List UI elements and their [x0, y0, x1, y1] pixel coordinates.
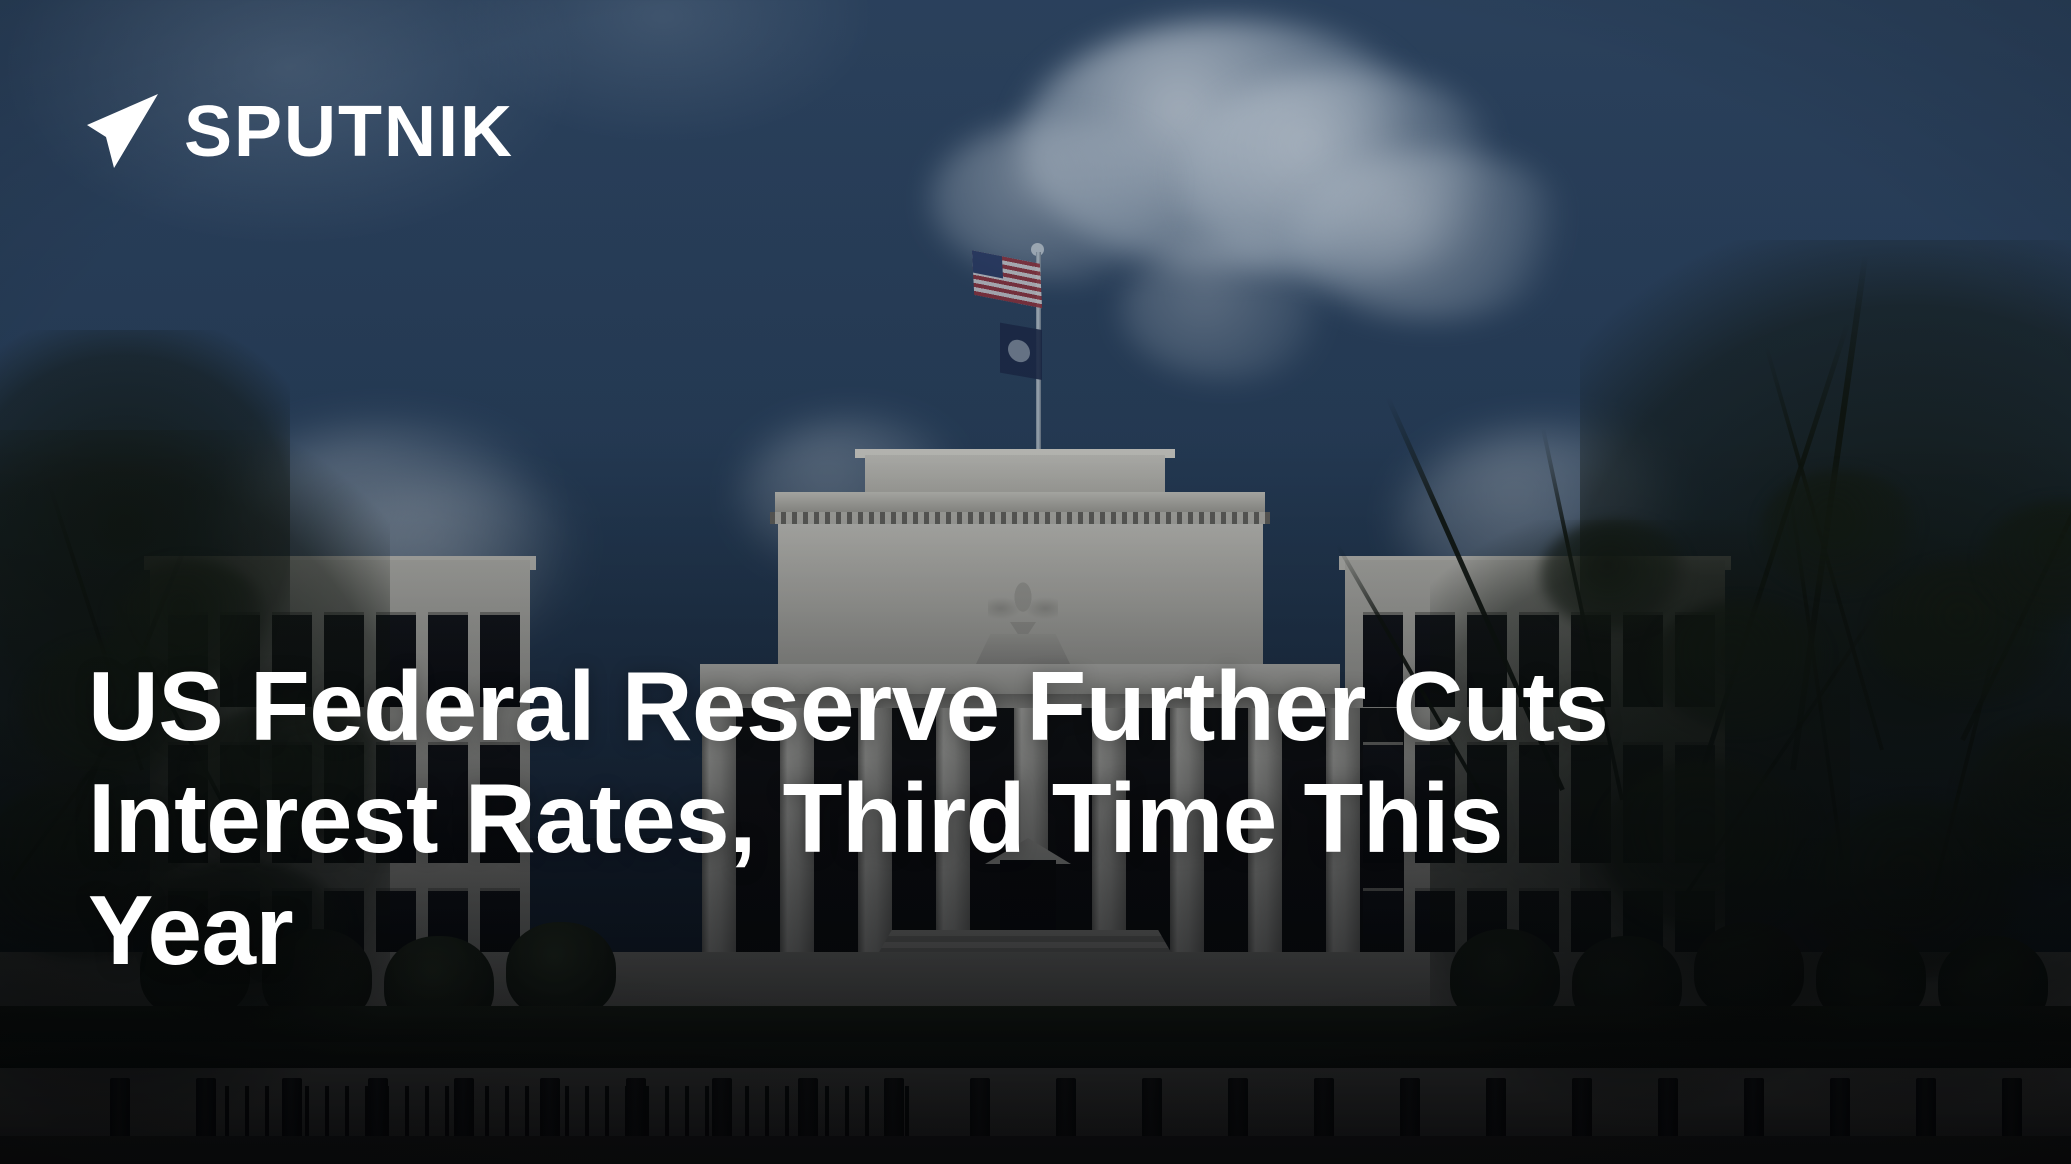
bollard	[712, 1078, 732, 1140]
bollard	[540, 1078, 560, 1140]
cloud	[930, 120, 1190, 280]
building-dentil-course	[770, 512, 1270, 524]
bollard	[1142, 1078, 1162, 1140]
building-attic	[865, 455, 1165, 493]
bollard	[970, 1078, 990, 1140]
bollard	[884, 1078, 904, 1140]
bollard	[626, 1078, 646, 1140]
tree-foliage	[1760, 470, 1920, 590]
bollard	[1228, 1078, 1248, 1140]
building-upper-cornice	[775, 492, 1265, 514]
bollard	[454, 1078, 474, 1140]
bollard	[1056, 1078, 1076, 1140]
headline-line-2: Interest Rates, Third Time This	[88, 762, 1928, 874]
sputnik-logo[interactable]: SPUTNIK	[84, 92, 514, 172]
hero-photograph	[0, 0, 2071, 1164]
headline-line-3: Year	[88, 874, 1928, 986]
news-hero-card: SPUTNIK US Federal Reserve Further Cuts …	[0, 0, 2071, 1164]
bollard	[798, 1078, 818, 1140]
bollard	[1314, 1078, 1334, 1140]
eagle-sculpture	[988, 576, 1058, 638]
bollard	[1400, 1078, 1420, 1140]
headline: US Federal Reserve Further Cuts Interest…	[88, 650, 1928, 987]
sputnik-wordmark: SPUTNIK	[184, 96, 514, 168]
tree-foliage	[1540, 520, 1690, 630]
headline-line-1: US Federal Reserve Further Cuts	[88, 650, 1928, 762]
sputnik-arrow-icon	[84, 92, 162, 172]
federal-reserve-flag	[1000, 323, 1042, 380]
cloud	[1120, 240, 1340, 380]
